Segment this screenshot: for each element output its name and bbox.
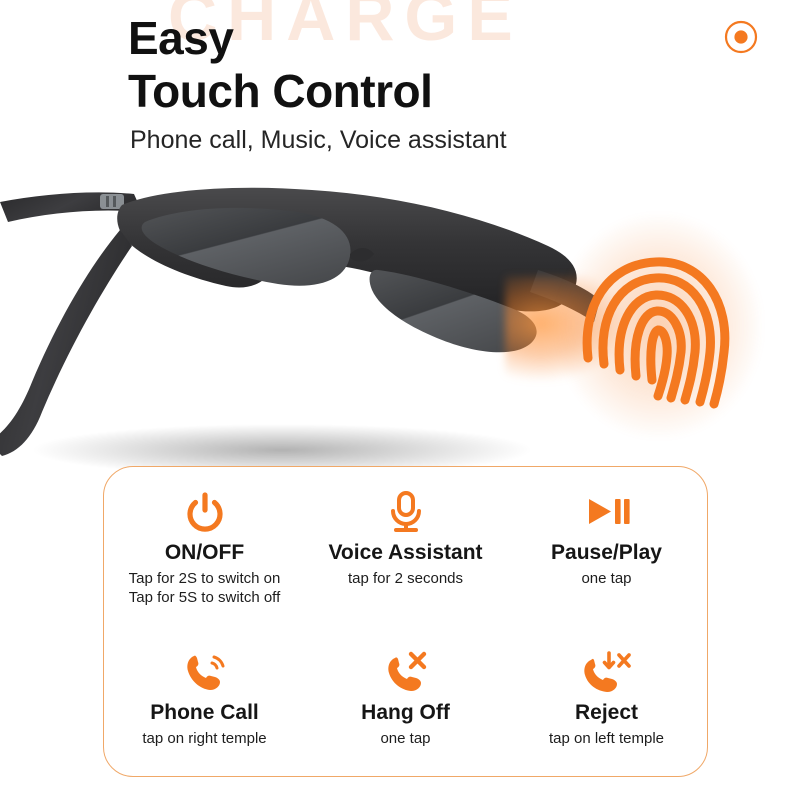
play-pause-icon xyxy=(510,489,703,535)
feature-subtitle-line: tap on left temple xyxy=(510,729,703,749)
power-icon xyxy=(108,489,301,535)
feature-cell-reject[interactable]: Reject tap on left temple xyxy=(506,649,707,748)
product-feature-graphic: CHARGE Easy Touch Control Phone call, Mu… xyxy=(0,0,800,800)
feature-cell-hang-off[interactable]: Hang Off one tap xyxy=(305,649,506,748)
feature-title: Phone Call xyxy=(108,701,301,726)
feature-title: Voice Assistant xyxy=(309,541,502,566)
feature-row-bottom: Phone Call tap on right temple Hang Off xyxy=(104,649,707,748)
phone-call-icon xyxy=(108,649,301,695)
feature-subtitle-line: one tap xyxy=(309,729,502,749)
feature-title: Reject xyxy=(510,701,703,726)
microphone-icon xyxy=(309,489,502,535)
feature-panel: ON/OFF Tap for 2S to switch on Tap for 5… xyxy=(103,466,708,777)
feature-title: Hang Off xyxy=(309,701,502,726)
feature-subtitle: tap for 2 seconds xyxy=(309,569,502,589)
feature-cell-phone-call[interactable]: Phone Call tap on right temple xyxy=(104,649,305,748)
page-title: Easy Touch Control xyxy=(128,12,432,118)
feature-subtitle-line: tap for 2 seconds xyxy=(309,569,502,589)
phone-hangup-icon xyxy=(309,649,502,695)
feature-subtitle: tap on left temple xyxy=(510,729,703,749)
feature-subtitle: one tap xyxy=(309,729,502,749)
feature-subtitle-line: one tap xyxy=(510,569,703,589)
headline-line-1: Easy xyxy=(128,12,432,65)
feature-row-top: ON/OFF Tap for 2S to switch on Tap for 5… xyxy=(104,489,707,608)
headline-line-2: Touch Control xyxy=(128,65,432,118)
fingerprint-icon xyxy=(578,238,738,413)
target-record-icon xyxy=(722,18,760,56)
feature-subtitle: one tap xyxy=(510,569,703,589)
feature-subtitle-line: tap on right temple xyxy=(108,729,301,749)
feature-cell-voice-assistant[interactable]: Voice Assistant tap for 2 seconds xyxy=(305,489,506,608)
feature-subtitle: Tap for 2S to switch on Tap for 5S to sw… xyxy=(108,569,301,608)
feature-title: Pause/Play xyxy=(510,541,703,566)
feature-cell-on-off[interactable]: ON/OFF Tap for 2S to switch on Tap for 5… xyxy=(104,489,305,608)
phone-reject-icon xyxy=(510,649,703,695)
feature-cell-pause-play[interactable]: Pause/Play one tap xyxy=(506,489,707,608)
feature-subtitle: tap on right temple xyxy=(108,729,301,749)
feature-subtitle-line: Tap for 5S to switch off xyxy=(108,588,301,608)
feature-title: ON/OFF xyxy=(108,541,301,566)
feature-subtitle-line: Tap for 2S to switch on xyxy=(108,569,301,589)
